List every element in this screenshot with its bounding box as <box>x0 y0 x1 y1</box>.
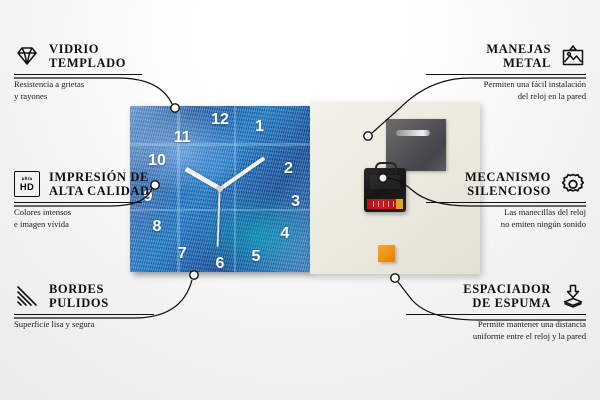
callout-subtitle: Permite mantener una distanciauniforme e… <box>371 319 586 342</box>
clock-numeral-1: 1 <box>255 119 264 135</box>
clock-numeral-3: 3 <box>291 194 300 210</box>
orange-foam-spacer <box>378 245 395 262</box>
wall-frame-icon <box>560 43 586 69</box>
callout-vidrio-templado[interactable]: VIDRIOTEMPLADO Resistencia a grietasy ra… <box>14 42 229 102</box>
clock-numeral-5: 5 <box>252 249 261 265</box>
infographic-stage: 12 1 2 3 4 5 6 7 8 9 10 11 <box>0 0 600 400</box>
callout-subtitle: Colores intensose imagen vívida <box>14 207 229 230</box>
callout-header: BORDESPULIDOS <box>14 282 229 310</box>
callout-rule <box>406 314 586 315</box>
callout-subtitle: Resistencia a grietasy rayones <box>14 79 229 102</box>
clock-numeral-2: 2 <box>284 161 293 177</box>
clock-numeral-7: 7 <box>178 246 187 262</box>
polished-edge-icon <box>14 283 40 309</box>
callout-title: VIDRIOTEMPLADO <box>49 42 126 70</box>
clock-numeral-11: 11 <box>174 130 191 146</box>
callout-header: MECANISMOSILENCIOSO <box>371 170 586 198</box>
callout-subtitle: Las manecillas del relojno emiten ningún… <box>371 207 586 230</box>
callout-rule <box>14 314 154 315</box>
ultra-hd-icon: ultra HD <box>14 171 40 197</box>
callout-title: IMPRESIÓN DEALTA CALIDAD <box>49 170 150 198</box>
callout-subtitle: Permiten una fácil instalacióndel reloj … <box>371 79 586 102</box>
callout-mecanismo-silencioso[interactable]: MECANISMOSILENCIOSO Las manecillas del r… <box>371 170 586 230</box>
foam-spacer-icon <box>560 283 586 309</box>
clock-numeral-6: 6 <box>216 256 225 272</box>
callout-title: MECANISMOSILENCIOSO <box>465 170 551 198</box>
clock-numeral-12: 12 <box>211 112 229 128</box>
callout-header: ultra HD IMPRESIÓN DEALTA CALIDAD <box>14 170 229 198</box>
callout-rule <box>426 74 586 75</box>
clock-numeral-4: 4 <box>280 226 289 242</box>
callout-header: ESPACIADORDE ESPUMA <box>371 282 586 310</box>
diamond-icon <box>14 43 40 69</box>
callout-manejas-metal[interactable]: MANEJASMETAL Permiten una fácil instalac… <box>371 42 586 102</box>
callout-rule <box>14 74 142 75</box>
callout-bordes-pulidos[interactable]: BORDESPULIDOS Superficie lisa y segura <box>14 282 229 331</box>
callout-header: VIDRIOTEMPLADO <box>14 42 229 70</box>
callout-espaciador-de-espuma[interactable]: ESPACIADORDE ESPUMA Permite mantener una… <box>371 282 586 342</box>
hanger-slot <box>396 130 430 136</box>
clock-numeral-10: 10 <box>148 153 166 169</box>
callout-rule <box>14 202 142 203</box>
callout-rule <box>426 202 586 203</box>
callout-title: ESPACIADORDE ESPUMA <box>463 282 551 310</box>
callout-subtitle: Superficie lisa y segura <box>14 319 229 330</box>
callout-impresion-alta-calidad[interactable]: ultra HD IMPRESIÓN DEALTA CALIDAD Colore… <box>14 170 229 230</box>
gear-icon <box>560 171 586 197</box>
callout-header: MANEJASMETAL <box>371 42 586 70</box>
callout-title: MANEJASMETAL <box>486 42 551 70</box>
callout-title: BORDESPULIDOS <box>49 282 109 310</box>
